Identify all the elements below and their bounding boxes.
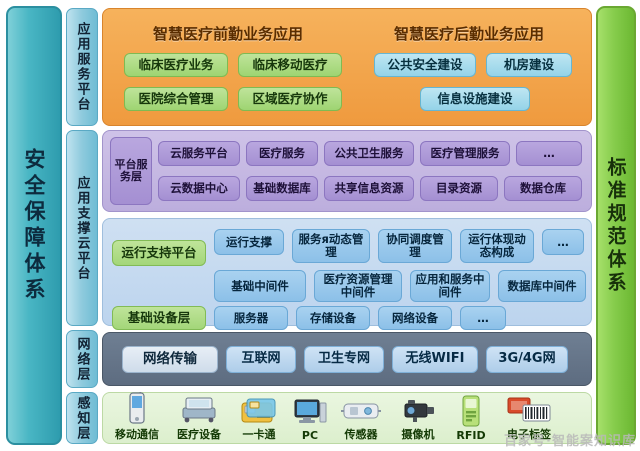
sensing-device-2[interactable]: 医疗设备 [168, 396, 230, 442]
sensing-device-6[interactable]: 摄像机 [390, 396, 446, 442]
run-support-row2-item-1[interactable]: 基础中间件 [214, 270, 306, 302]
app-back-item-2[interactable]: 机房建设 [486, 53, 572, 77]
run-support-row2-item-2[interactable]: 医疗资源管理中间件 [314, 270, 402, 302]
sensing-device-1-label: 移动通信 [115, 426, 159, 442]
network-item-mobile[interactable]: 3G/4G网 [486, 346, 568, 373]
layer-label-network-text: 网络层 [73, 337, 92, 382]
infrastructure-layer-label[interactable]: 基础设备层 [112, 306, 206, 330]
app-front-item-4[interactable]: 区域医疗协作 [238, 87, 342, 111]
run-support-row2-item-4[interactable]: 数据库中间件 [498, 270, 586, 302]
network-item-wifi[interactable]: 无线WIFI [392, 346, 478, 373]
sensing-device-5-label: 传感器 [345, 426, 378, 442]
run-support-row2-item-3-text: 应用和服务中间件 [413, 273, 487, 298]
barcode-label-icon [507, 396, 551, 424]
network-transmission-label: 网络传输 [122, 346, 218, 373]
watermark: 百家号·智能案知识库 [504, 430, 636, 449]
camera-icon [399, 396, 437, 424]
sensing-device-4[interactable]: PC [288, 396, 332, 442]
sensing-device-7[interactable]: RFID [446, 396, 496, 442]
layer-label-app-support-cloud-text: 应用支撑云平台 [73, 176, 92, 281]
app-back-item-3[interactable]: 信息设施建设 [420, 87, 530, 111]
run-support-row1-item-4-text: 运行体现动态构成 [463, 233, 531, 258]
network-item-health-private[interactable]: 卫生专网 [304, 346, 384, 373]
left-pillar-label: 安全保障体系 [19, 148, 49, 304]
run-support-row1-item-1[interactable]: 运行支撑 [214, 229, 284, 255]
sensing-device-1[interactable]: 移动通信 [106, 396, 168, 442]
back-office-title: 智慧医疗后勤业务应用 [356, 22, 582, 44]
run-support-platform-label[interactable]: 运行支持平台 [112, 240, 206, 266]
layer-label-app-service-text: 应用服务平台 [73, 22, 92, 112]
app-back-item-1[interactable]: 公共安全建设 [374, 53, 476, 77]
desktop-pc-icon [293, 396, 327, 427]
run-support-row1-item-4[interactable]: 运行体现动态构成 [460, 229, 534, 263]
sensing-device-5[interactable]: 传感器 [332, 396, 390, 442]
platform-row1-item-5[interactable]: … [516, 141, 582, 166]
infra-item-3[interactable]: 网络设备 [378, 306, 452, 330]
platform-service-layer-label: 平台服务层 [110, 137, 152, 205]
mobile-phone-icon [128, 392, 146, 424]
layer-label-app-support-cloud: 应用支撑云平台 [66, 130, 98, 326]
platform-row1-item-4[interactable]: 医疗管理服务 [420, 141, 510, 166]
network-item-internet[interactable]: 互联网 [226, 346, 296, 373]
smart-card-icon [241, 396, 277, 424]
platform-row2-item-1[interactable]: 云数据中心 [158, 176, 240, 201]
platform-row1-item-2[interactable]: 医疗服务 [246, 141, 318, 166]
platform-row2-item-4[interactable]: 目录资源 [420, 176, 498, 201]
rfid-tag-icon [459, 395, 483, 427]
sensor-icon [341, 396, 381, 424]
run-support-row2-item-2-text: 医疗资源管理中间件 [318, 273, 398, 298]
left-pillar-security: 安全保障体系 [6, 6, 62, 445]
run-support-row1-item-2[interactable]: 服务я动态管理 [292, 229, 370, 263]
infra-item-4[interactable]: … [460, 306, 506, 330]
platform-row2-item-5[interactable]: 数据仓库 [504, 176, 582, 201]
run-support-row1-item-3-text: 协同调度管理 [381, 233, 449, 258]
sensing-device-3-label: 一卡通 [243, 426, 276, 442]
right-pillar-standards: 标准规范体系 [596, 6, 636, 445]
infra-item-2[interactable]: 存储设备 [296, 306, 370, 330]
sensing-device-6-label: 摄像机 [402, 426, 435, 442]
app-front-item-2[interactable]: 临床移动医疗 [238, 53, 342, 77]
diagram-root: 安全保障体系 标准规范体系 应用服务平台 应用支撑云平台 网络层 感知层 智慧医… [0, 0, 640, 451]
platform-row2-item-3[interactable]: 共享信息资源 [324, 176, 414, 201]
run-support-row1-item-5[interactable]: … [542, 229, 584, 255]
run-support-row1-item-3[interactable]: 协同调度管理 [378, 229, 452, 263]
app-front-item-3[interactable]: 医院综合管理 [124, 87, 228, 111]
run-support-row1-item-2-text: 服务я动态管理 [296, 233, 366, 258]
run-support-row2-item-3[interactable]: 应用和服务中间件 [410, 270, 490, 302]
sensing-device-3[interactable]: 一卡通 [230, 396, 288, 442]
front-office-title: 智慧医疗前勤业务应用 [112, 22, 344, 44]
sensing-device-4-label: PC [302, 429, 318, 442]
platform-service-layer-label-text: 平台服务层 [114, 159, 148, 183]
infra-item-1[interactable]: 服务器 [214, 306, 288, 330]
layer-label-app-service: 应用服务平台 [66, 8, 98, 126]
medical-device-icon [182, 394, 216, 424]
right-pillar-label: 标准规范体系 [603, 157, 630, 295]
layer-label-sensing: 感知层 [66, 392, 98, 444]
platform-row1-item-3[interactable]: 公共卫生服务 [324, 141, 414, 166]
app-front-item-1[interactable]: 临床医疗业务 [124, 53, 228, 77]
layer-label-sensing-text: 感知层 [73, 396, 92, 441]
platform-row1-item-1[interactable]: 云服务平台 [158, 141, 240, 166]
sensing-device-7-label: RFID [456, 429, 485, 442]
platform-row2-item-2[interactable]: 基础数据库 [246, 176, 318, 201]
layer-label-network: 网络层 [66, 330, 98, 388]
sensing-device-2-label: 医疗设备 [177, 426, 221, 442]
